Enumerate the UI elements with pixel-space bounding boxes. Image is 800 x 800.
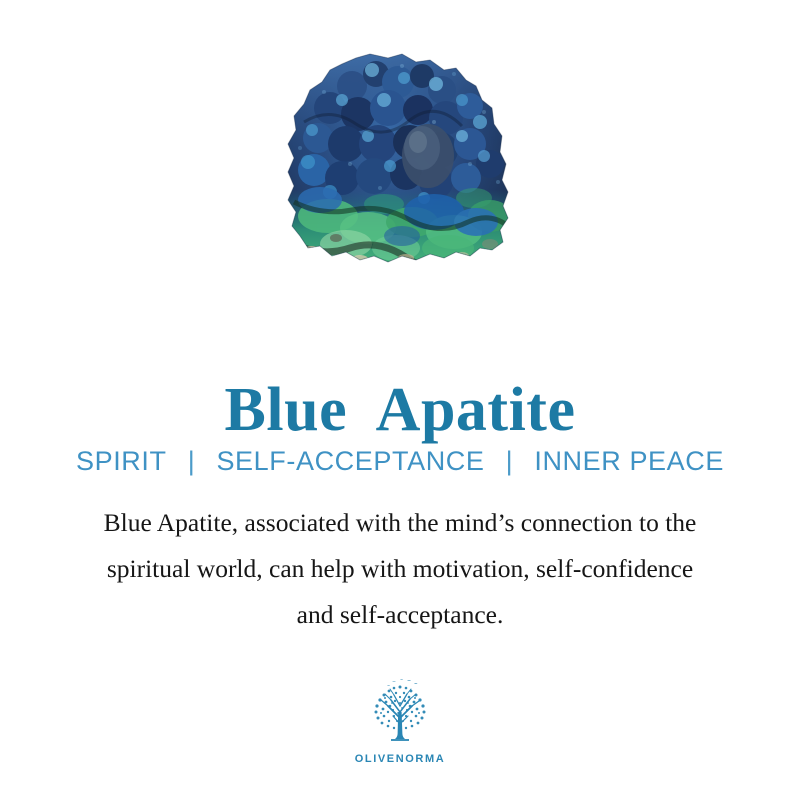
blue-apatite-stone-illustration: [284, 52, 516, 294]
stone-nodule: [402, 124, 454, 188]
description-line-2: spiritual world, can help with motivatio…: [36, 546, 764, 592]
stone-body: [284, 52, 516, 294]
product-description: Blue Apatite, associated with the mind’s…: [36, 500, 764, 638]
product-info-card: Blue Apatite SPIRIT | SELF-ACCEPTANCE | …: [0, 0, 800, 800]
tree-icon: [363, 678, 437, 750]
description-line-1: Blue Apatite, associated with the mind’s…: [36, 500, 764, 546]
keyword-separator-2: |: [493, 444, 527, 478]
bird-icons: [387, 679, 418, 686]
keyword-separator-1: |: [175, 444, 209, 478]
gemstone-image: [0, 44, 800, 294]
keyword-self-acceptance: SELF-ACCEPTANCE: [216, 444, 484, 478]
keyword-inner-peace: INNER PEACE: [534, 444, 724, 478]
keyword-spirit: SPIRIT: [76, 444, 167, 478]
keyword-list: SPIRIT | SELF-ACCEPTANCE | INNER PEACE: [0, 444, 800, 478]
description-line-3: and self-acceptance.: [36, 592, 764, 638]
brand-name: OLIVENORMA: [355, 753, 446, 765]
page-title: Blue Apatite: [0, 376, 800, 444]
brand-logo: OLIVENORMA: [0, 678, 800, 765]
